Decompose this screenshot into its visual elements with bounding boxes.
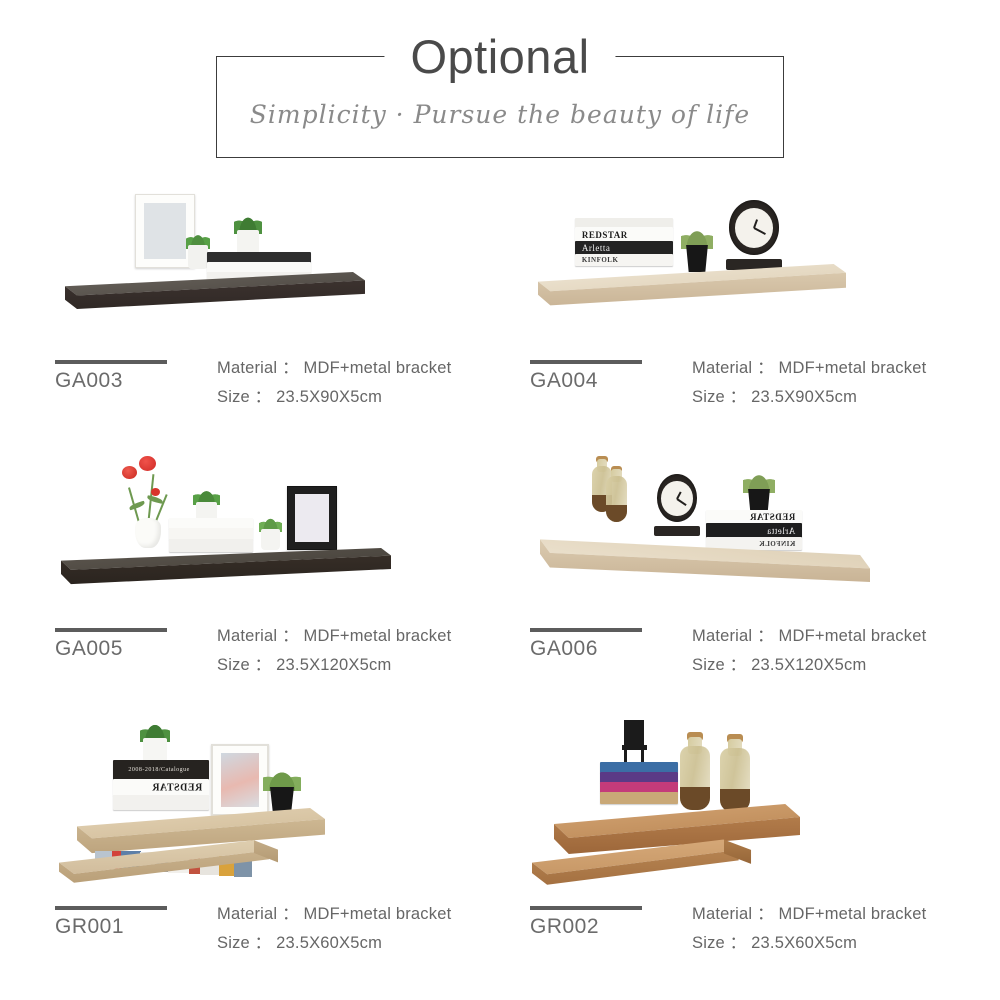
product-grid: GA003 Material ： MDF+metal bracket Size … — [0, 176, 1000, 980]
product-card-gr002[interactable]: GR002 Material ： MDF+metal bracket Size … — [530, 712, 1000, 980]
code-rule — [55, 360, 167, 364]
book-stack-decor: 2008-2018/Catalogue REDSTAR — [113, 760, 209, 810]
material-line: Material ： MDF+metal bracket — [692, 900, 1000, 929]
mini-chair-decor — [622, 720, 648, 764]
product-photo-gr002 — [530, 712, 1000, 908]
material-line: Material ： MDF+metal bracket — [692, 354, 1000, 383]
product-photo-ga006: REDSTAR Arletta KINFOLK — [530, 444, 1000, 620]
material-line: Material ： MDF+metal bracket — [217, 622, 537, 651]
product-card-ga003[interactable]: GA003 Material ： MDF+metal bracket Size … — [55, 176, 535, 444]
product-code-block: GR001 — [55, 898, 205, 940]
book-stack-decor: REDSTAR Arletta KINFOLK — [575, 218, 673, 266]
product-code: GR002 — [530, 914, 680, 940]
size-line: Size ： 23.5X90X5cm — [692, 383, 1000, 412]
drawer-open[interactable] — [532, 836, 784, 894]
product-code: GA005 — [55, 636, 205, 662]
code-rule — [530, 360, 642, 364]
glass-bottle-decor — [720, 734, 750, 812]
size-line: Size ： 23.5X60X5cm — [217, 929, 537, 958]
product-specs: Material ： MDF+metal bracket Size ： 23.5… — [692, 900, 1000, 958]
photo-frame-decor — [287, 486, 337, 550]
size-line: Size ： 23.5X90X5cm — [217, 383, 537, 412]
glass-bottle-decor — [680, 732, 710, 810]
product-caption: GR002 Material ： MDF+metal bracket Size … — [530, 898, 1000, 970]
product-code-block: GA005 — [55, 620, 205, 662]
book-stack-decor — [600, 762, 678, 804]
product-specs: Material ： MDF+metal bracket Size ： 23.5… — [692, 354, 1000, 412]
code-rule — [530, 906, 642, 910]
succulent-decor — [261, 516, 280, 550]
product-row: 2008-2018/Catalogue REDSTAR — [0, 712, 1000, 980]
size-line: Size ： 23.5X120X5cm — [692, 651, 1000, 680]
succulent-decor — [143, 722, 167, 764]
succulent-decor — [237, 214, 259, 256]
code-rule — [55, 906, 167, 910]
page-title: Optional — [384, 28, 615, 86]
glass-bottle-decor — [606, 466, 627, 522]
photo-frame-decor — [211, 744, 269, 816]
material-line: Material ： MDF+metal bracket — [692, 622, 1000, 651]
succulent-decor — [188, 231, 208, 269]
product-photo-ga003 — [55, 176, 525, 352]
product-code-block: GA004 — [530, 352, 680, 394]
product-caption: GA005 Material ： MDF+metal bracket Size … — [55, 620, 525, 692]
size-line: Size ： 23.5X120X5cm — [217, 651, 537, 680]
product-code-block: GA006 — [530, 620, 680, 662]
product-row: GA003 Material ： MDF+metal bracket Size … — [0, 176, 1000, 444]
product-code: GA004 — [530, 368, 680, 394]
material-line: Material ： MDF+metal bracket — [217, 354, 537, 383]
clock-decor — [654, 474, 700, 536]
size-line: Size ： 23.5X60X5cm — [692, 929, 1000, 958]
shelf-slab — [61, 548, 391, 590]
product-code: GA006 — [530, 636, 680, 662]
shelf-slab — [540, 530, 870, 582]
material-line: Material ： MDF+metal bracket — [217, 900, 537, 929]
shelf-slab — [538, 264, 846, 308]
product-row: GA005 Material ： MDF+metal bracket Size … — [0, 444, 1000, 712]
product-photo-ga004: REDSTAR Arletta KINFOLK — [530, 176, 1000, 352]
product-code: GA003 — [55, 368, 205, 394]
product-card-gr001[interactable]: 2008-2018/Catalogue REDSTAR — [55, 712, 535, 980]
code-rule — [530, 628, 642, 632]
drawer-open[interactable] — [59, 838, 309, 894]
product-caption: GA006 Material ： MDF+metal bracket Size … — [530, 620, 1000, 692]
book-stack-decor — [169, 518, 253, 552]
product-specs: Material ： MDF+metal bracket Size ： 23.5… — [217, 622, 537, 680]
product-specs: Material ： MDF+metal bracket Size ： 23.5… — [217, 354, 537, 412]
product-code-block: GA003 — [55, 352, 205, 394]
product-code: GR001 — [55, 914, 205, 940]
product-photo-gr001: 2008-2018/Catalogue REDSTAR — [55, 712, 525, 908]
product-code-block: GR002 — [530, 898, 680, 940]
product-card-ga006[interactable]: REDSTAR Arletta KINFOLK — [530, 444, 1000, 712]
product-specs: Material ： MDF+metal bracket Size ： 23.5… — [692, 622, 1000, 680]
code-rule — [55, 628, 167, 632]
clock-decor — [726, 200, 782, 270]
header-banner: Optional Simplicity · Pursue the beauty … — [216, 28, 784, 158]
shelf-slab — [65, 272, 365, 314]
product-caption: GA003 Material ： MDF+metal bracket Size … — [55, 352, 525, 424]
product-specs: Material ： MDF+metal bracket Size ： 23.5… — [217, 900, 537, 958]
product-photo-ga005 — [55, 444, 525, 620]
page-subtitle: Simplicity · Pursue the beauty of life — [216, 100, 784, 129]
product-caption: GR001 Material ： MDF+metal bracket Size … — [55, 898, 525, 970]
product-caption: GA004 Material ： MDF+metal bracket Size … — [530, 352, 1000, 424]
product-card-ga004[interactable]: REDSTAR Arletta KINFOLK — [530, 176, 1000, 444]
product-card-ga005[interactable]: GA005 Material ： MDF+metal bracket Size … — [55, 444, 535, 712]
